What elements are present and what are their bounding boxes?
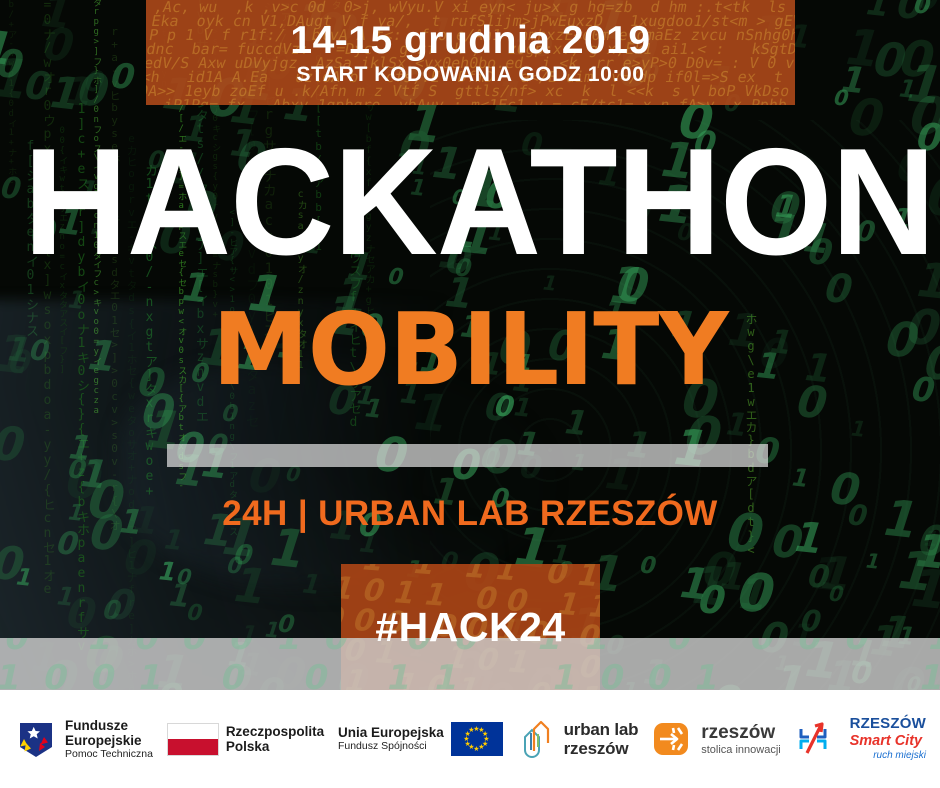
poland-flag-icon <box>167 723 219 756</box>
logo-urban-lab-rzeszow: urban lab rzeszów <box>517 717 639 761</box>
subtitle-mobility: MOBILITY <box>14 300 926 400</box>
rzeszow-city-icon <box>652 719 694 759</box>
fundusze-europejskie-text: Fundusze Europejskie Pomoc Techniczna <box>65 718 153 761</box>
divider-bar <box>167 444 768 467</box>
fundusze-europejskie-icon <box>14 717 58 761</box>
logo-line-2: rzeszów <box>564 739 639 758</box>
sponsor-logo-bar: Fundusze Europejskie Pomoc Techniczna Rz… <box>0 690 940 788</box>
smart-city-arrow-icon <box>795 717 843 761</box>
logo-line-1: urban lab <box>564 720 639 739</box>
hashtag-text: #HACK24 <box>375 604 565 651</box>
event-start-time: START KODOWANIA GODZ 10:00 <box>296 64 644 85</box>
logo-fundusze-europejskie: Fundusze Europejskie Pomoc Techniczna <box>14 717 153 761</box>
logo-line-1: rzeszów <box>701 722 780 743</box>
logo-subline: Fundusz Spójności <box>338 741 444 753</box>
urban-lab-text: urban lab rzeszów <box>564 720 639 758</box>
logo-unia-europejska: Unia Europejska Fundusz Spójności ★★★★★★… <box>338 722 503 756</box>
logo-subline: ruch miejski <box>850 750 926 761</box>
logo-line-2: Europejskie <box>65 733 153 748</box>
event-date-banner: ,Ac, wu ,k ,v>c 0d 0>j, wVyu.V xi eyn< j… <box>146 0 795 105</box>
flag-white-stripe <box>168 724 218 740</box>
logo-subline: Pomoc Techniczna <box>65 749 153 761</box>
hackathon-poster: t]xrtフ}yウsエ}ナcz=t-{セnスサ11f+yナホ[ヒ\カdnイ]wb… <box>0 0 940 788</box>
eu-flag-icon: ★★★★★★★★★★★★ <box>451 722 503 756</box>
logo-rzeczpospolita-polska: Rzeczpospolita Polska <box>167 723 324 756</box>
unia-europejska-text: Unia Europejska Fundusz Spójności <box>338 725 444 753</box>
venue-line: 24H | URBAN LAB RZESZÓW <box>0 495 940 534</box>
main-title: HACKATHON <box>24 126 917 278</box>
rzeczpospolita-polska-text: Rzeczpospolita Polska <box>226 724 324 754</box>
rzeszow-text: rzeszów stolica innowacji <box>701 722 780 757</box>
logo-line-2: Polska <box>226 739 324 754</box>
urban-lab-house-icon <box>517 717 557 761</box>
logo-line-1: Unia Europejska <box>338 725 444 740</box>
logo-line-2: Smart City <box>850 733 926 749</box>
logo-subline: stolica innowacji <box>701 744 780 756</box>
logo-line-1: Fundusze <box>65 718 153 733</box>
smart-city-text: RZESZÓW Smart City ruch miejski <box>850 716 926 761</box>
flag-red-stripe <box>168 739 218 755</box>
event-date: 14-15 grudnia 2019 <box>290 21 650 60</box>
logo-rzeszow-stolica-innowacji: rzeszów stolica innowacji <box>652 719 780 759</box>
logo-line-1: Rzeczpospolita <box>226 724 324 739</box>
logo-rzeszow-smart-city: RZESZÓW Smart City ruch miejski <box>795 716 926 761</box>
logo-line-1: RZESZÓW <box>850 716 926 733</box>
